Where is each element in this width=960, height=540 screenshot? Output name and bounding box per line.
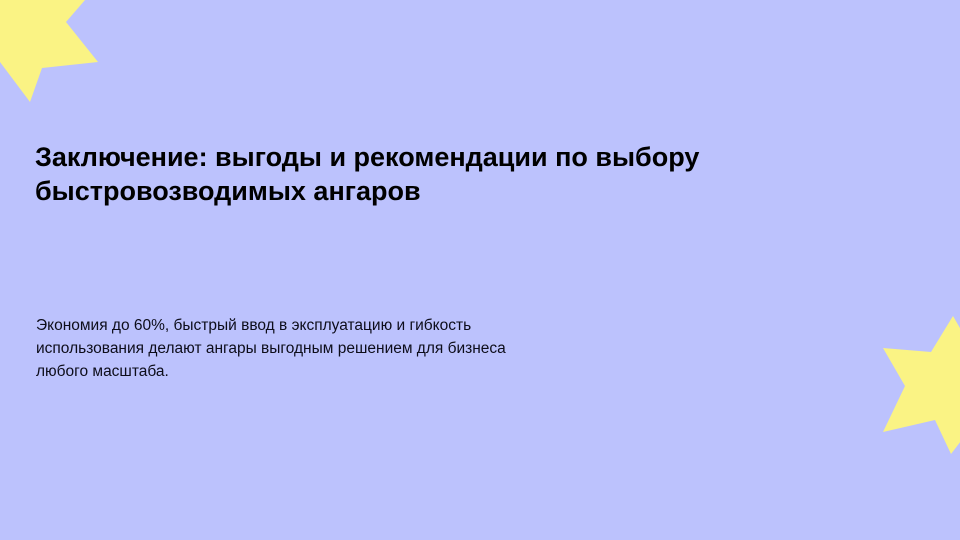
slide-body-text: Экономия до 60%, быстрый ввод в эксплуат… xyxy=(36,314,506,383)
star-icon xyxy=(0,0,106,106)
slide-canvas: Заключение: выгоды и рекомендации по выб… xyxy=(0,0,960,540)
page-title: Заключение: выгоды и рекомендации по выб… xyxy=(35,140,865,208)
star-icon xyxy=(879,316,960,456)
